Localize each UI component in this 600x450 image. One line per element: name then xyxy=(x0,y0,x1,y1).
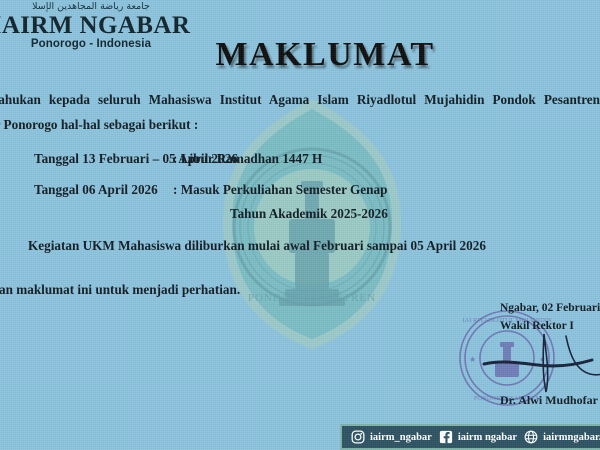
signature-place-date: Ngabar, 02 Februari 2026 xyxy=(500,300,600,318)
facebook-handle: iairm ngabar xyxy=(458,432,517,443)
schedule-item-label: Tanggal 13 Februari – 05 April 2026 xyxy=(0,151,173,167)
signature-position: Wakil Rektor I xyxy=(500,318,600,336)
letterhead-institution-name: IAIRM NGABAR xyxy=(0,13,256,38)
social-facebook[interactable]: iairm ngabar xyxy=(439,430,517,444)
schedule-item-label xyxy=(0,206,230,222)
page-title: MAKLUMAT xyxy=(0,36,600,74)
intro-line-1: Diberitahukan kepada seluruh Mahasiswa I… xyxy=(0,90,600,110)
poster-canvas: PONDOK PESANTREN جامعة رياضة المجاهدين ا… xyxy=(0,0,600,450)
schedule-item-value: : Libur Ramadhan 1447 H xyxy=(173,151,322,167)
social-instagram[interactable]: iairm_ngabar xyxy=(351,430,432,444)
intro-line-2: Ngabar Ponorogo hal-hal sebagai berikut … xyxy=(0,115,600,135)
page-title-text: MAKLUMAT xyxy=(215,36,434,74)
schedule-item-value: : Masuk Perkuliahan Semester Genap xyxy=(173,182,387,198)
facebook-icon xyxy=(439,430,453,444)
announcement-body: Diberitahukan kepada seluruh Mahasiswa I… xyxy=(0,90,600,298)
schedule-item: Tanggal 13 Februari – 05 April 2026 : Li… xyxy=(0,151,600,167)
signature-block: Ngabar, 02 Februari 2026 Wakil Rektor I … xyxy=(500,300,600,409)
letterhead-arabic: جامعة رياضة المجاهدين الإسلا xyxy=(0,2,256,12)
schedule-item-value: Tahun Akademik 2025-2026 xyxy=(230,206,388,222)
schedule-item: Tahun Akademik 2025-2026 xyxy=(0,206,600,222)
closing-statement: Demikian maklumat ini untuk menjadi perh… xyxy=(0,282,600,298)
svg-text:★: ★ xyxy=(469,355,476,364)
instagram-icon xyxy=(351,430,365,444)
signature-name: Dr. Alwi Mudhofar xyxy=(500,391,600,410)
schedule-item-label: Tanggal 06 April 2026 xyxy=(0,182,173,198)
website-handle: iairmngabar.ac.id xyxy=(543,432,600,443)
instagram-handle: iairm_ngabar xyxy=(370,432,432,443)
footer-social-bar: iairm_ngabar iairm ngabar iairmngabar.ac… xyxy=(340,424,600,450)
schedule-item: Tanggal 06 April 2026 : Masuk Perkuliaha… xyxy=(0,182,600,198)
globe-icon xyxy=(524,430,538,444)
social-website[interactable]: iairmngabar.ac.id xyxy=(524,430,600,444)
ukm-note: Kegiatan UKM Mahasiswa diliburkan mulai … xyxy=(0,238,600,254)
